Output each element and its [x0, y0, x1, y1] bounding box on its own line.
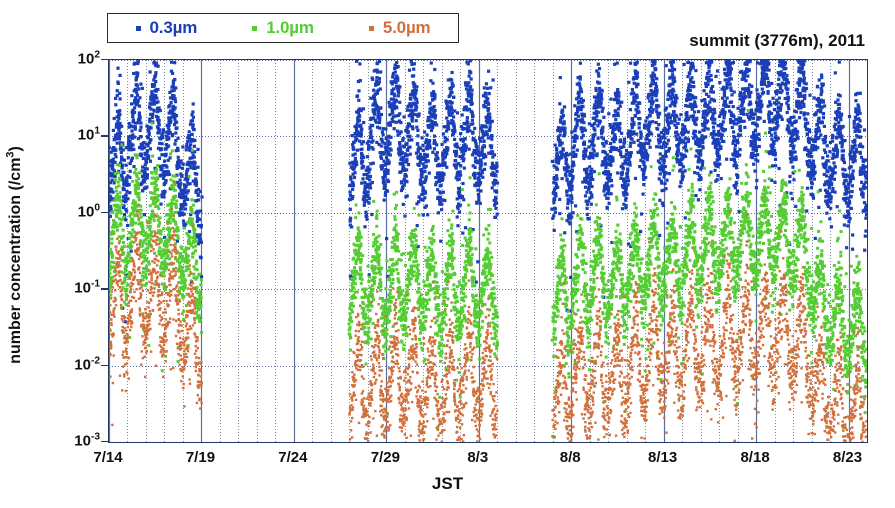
x-tick-label: 7/24 — [278, 449, 307, 466]
x-tick-label: 8/23 — [833, 449, 862, 466]
plot-area — [108, 59, 868, 443]
x-tick-label: 8/18 — [740, 449, 769, 466]
chart-figure: 0.3µm 1.0µm 5.0µm summit (3776m), 2011 n… — [0, 0, 895, 508]
series-points-s50 — [109, 181, 867, 442]
data-points — [109, 60, 867, 442]
x-tick-label: 7/14 — [93, 449, 122, 466]
x-tick-label: 8/3 — [467, 449, 488, 466]
x-tick-label: 8/13 — [648, 449, 677, 466]
x-tick-label: 7/19 — [186, 449, 215, 466]
x-tick-label: 8/8 — [560, 449, 581, 466]
x-tick-label: 7/29 — [371, 449, 400, 466]
